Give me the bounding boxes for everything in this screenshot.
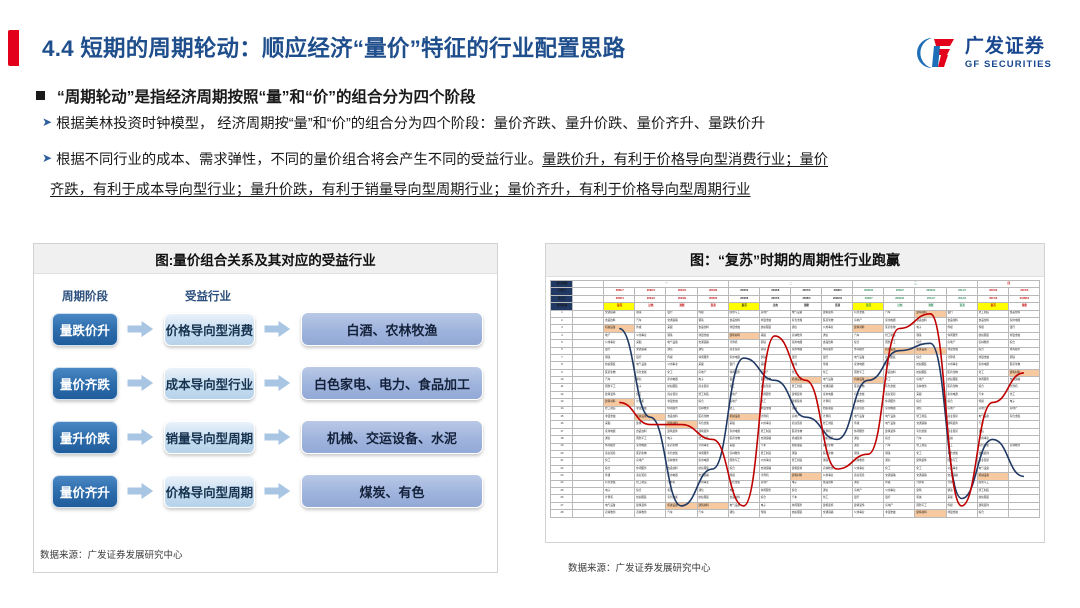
group-header: 一 [604,281,729,288]
industry-cell: 计算机 [1008,384,1039,391]
industry-cell: 建筑装饰 [697,428,728,435]
phase-cell: 复苏 [853,303,884,310]
industry-cell: 医药生物 [666,443,697,450]
industry-cell: 纺织服装 [822,436,853,443]
table-row: 17家用电器食品饮料建筑装饰建筑装饰家用电器轻工制造医药生物计算机休闲服务建筑装… [551,428,1040,435]
table-row: 21化工房地产农林牧渔家用电器国防军工公用事业轻工制造钢铁农林牧渔通信建筑装饰国… [551,458,1040,465]
industry-cell: 交通运输 [915,473,946,480]
table-row: 15非银金融机械设备食品饮料医药生物机械设备计算机房地产计算机电气设备电气设备轻… [551,414,1040,421]
industry-cell: 农林牧渔 [728,450,759,457]
date-cell: 2018/10 [1008,295,1039,302]
group-header: 二 [728,281,853,288]
industry-cell: 有色金属 [1008,414,1039,421]
industry-cell: 休闲服务 [604,443,635,450]
rank-number: 10 [551,377,573,384]
industry-cell: 房地产 [697,369,728,376]
industry-cell: 电气设备 [853,354,884,361]
date-cell: 2017/3 [1008,288,1039,295]
industry-cell: 电子 [1008,399,1039,406]
stage-chip[interactable]: 量跌价升 [52,313,118,346]
industry-cell: 电子 [759,502,790,509]
flow-row: 量升价跌销量导向型周期机械、交运设备、水泥 [48,418,483,456]
industry-cell: 钢铁 [666,332,697,339]
industry-cell: 综合 [728,465,759,472]
industry-cell: 轻工制造 [977,487,1008,494]
industry-cell: 交通运输 [604,310,635,317]
industry-cell: 非银金融 [946,347,977,354]
date-cell: 2008/3 [790,295,821,302]
industry-cell: 交通运输 [946,473,977,480]
industry-cell: 商业贸易 [604,450,635,457]
industry-cell: 交通运输 [697,340,728,347]
industry-cell: 食品饮料 [728,495,759,502]
industry-cell: 商业贸易 [977,458,1008,465]
flow-row-list: 量跌价升价格导向型消费白酒、农林牧渔量价齐跌成本导向型行业白色家电、电力、食品加… [48,310,483,510]
cycle-ranking-table: 经济周期一二三四月始日2001/72002/42004/42004/92005/… [550,280,1040,518]
group-header: 三 [853,281,978,288]
table-row: 26计算机纺织服装有色金属纺织服装食品饮料综合汽车化工银行银行机械采掘纺织服装 [551,495,1040,502]
industry-cell: 机械设备 [915,347,946,354]
industry-cell: 计算机 [946,354,977,361]
industry-cell: 商业贸易 [946,414,977,421]
industry-cell: 公用事业 [822,325,853,332]
industry-cell: 综合 [1008,340,1039,347]
industry-cell: 化工 [666,369,697,376]
industry-cell: 轻工 [728,384,759,391]
industry-cell: 家用电器 [697,458,728,465]
industry-cell: 通信 [822,487,853,494]
date-cell: 2004/4 [635,295,666,302]
industry-cell: 通信 [728,510,759,517]
industry-cell: 建筑装饰 [853,502,884,509]
industry-cell: 机械设备 [790,377,821,384]
industry-cell: 非银金融 [759,317,790,324]
industry-cell: 公用事业 [697,443,728,450]
spacer-cell [573,421,604,428]
industry-cell: 建筑 [635,421,666,428]
industry-cell: 电子 [790,480,821,487]
stage-chip[interactable]: 量价齐升 [52,475,118,508]
table-row: 13建筑材料计算机非银金融综合房地产化工建筑装饰计算机农林牧渔休闲服务综合综合传… [551,399,1040,406]
title-accent-bar [8,30,19,66]
industry-cell: 医药生物 [790,428,821,435]
industry-cell: 机械设备 [977,473,1008,480]
industry-cell: 医药生物 [635,450,666,457]
arrow-bullet-icon: ➤ [42,150,52,167]
date-cell: 2004/9 [666,295,697,302]
rank-number: 26 [551,495,573,502]
type-chip[interactable]: 价格导向型消费 [164,313,255,346]
industry-cell: 非银金融 [697,332,728,339]
sub-bullet-3-text: 齐跌，有利于成本导向型行业；量升价跌，有利于销量导向型周期行业；量价齐升，有利于… [50,180,751,201]
industry-cell: 钢铁 [1008,354,1039,361]
industry-cell: 家用电器 [790,340,821,347]
table-row: 27电气设备建筑装饰机械设备建筑材料电气设备电子休闲服务建筑装饰建筑装饰房地产国… [551,502,1040,509]
industry-cell: 综合 [915,340,946,347]
industry-chip[interactable]: 白色家电、电力、食品加工 [301,366,483,400]
industry-cell: 电气设备 [884,414,915,421]
industry-cell: 电气设备 [822,377,853,384]
industry-cell: 有色金属 [853,310,884,317]
industry-cell: 纺织服装 [635,495,666,502]
spacer-cell [573,458,604,465]
industry-cell: 农林牧渔 [666,458,697,465]
industry-cell: 化工 [790,369,821,376]
row-end-date: 截止日 [551,295,573,302]
industry-cell: 汽车 [915,436,946,443]
industry-cell: 农林牧渔 [635,510,666,517]
date-cell: 2008/11 [853,288,884,295]
phase-cell: 复苏 [977,303,1008,310]
industry-cell [1008,473,1039,480]
rank-number: 8 [551,362,573,369]
industry-cell: 非银金融 [759,406,790,413]
industry-cell: 交通运输 [915,421,946,428]
rank-number: 9 [551,369,573,376]
industry-cell [1008,428,1039,435]
industry-cell: 休闲服务 [697,354,728,361]
industry-cell: 钢铁 [884,450,915,457]
industry-cell: 汽车 [604,377,635,384]
industry-cell: 机械装饰 [790,436,821,443]
industry-cell: 综合 [977,347,1008,354]
stage-chip[interactable]: 量升价跌 [52,421,118,454]
spacer-cell [573,436,604,443]
table-row: 9医药生物有色金属化工房地产休闲服务房地产化工化工国防军工食品饮料纺织服装医药生… [551,369,1040,376]
industry-cell: 汽车 [697,510,728,517]
industry-cell: 非银金融 [666,399,697,406]
industry-cell: 有色金属 [635,369,666,376]
table-row: 经济阶段复苏过热滞胀衰退复苏过热滞胀衰退复苏过热滞胀衰退复苏滞胀 [551,303,1040,310]
industry-cell: 纺织服装 [604,362,635,369]
industry-cell: 建筑材料 [915,310,946,317]
industry-cell: 房地产 [635,458,666,465]
type-chip[interactable]: 销量导向型周期 [164,421,255,454]
date-cell: 2009/7 [884,288,915,295]
date-cell: 2008/3 [822,288,853,295]
table-row: 20商业贸易医药生物有色金属休闲服务农林牧渔轻工制造钢铁医药生物钢铁钢铁化工有色… [551,450,1040,457]
industry-cell [1008,510,1039,517]
arrow-right-icon [127,319,155,339]
page-title: 4.4 短期的周期轮动：顺应经济“量价”特征的行业配置思路 [42,31,625,63]
arrow-right-icon [264,319,292,339]
industry-cell: 有色金属 [790,317,821,324]
industry-chip[interactable]: 机械、交运设备、水泥 [301,420,483,454]
industry-cell: 公用事业 [759,421,790,428]
industry-cell: 钢铁 [790,450,821,457]
industry-cell: 国防军工 [604,384,635,391]
industry-cell: 农林牧渔 [915,384,946,391]
date-cell: 2001/7 [604,288,635,295]
industry-cell: 计算机 [604,495,635,502]
spacer-cell [573,399,604,406]
table-row: 8纺织服装电气设备公用事业采掘银行采掘传媒传媒家用电器综合纺织服装公用事业家用电… [551,362,1040,369]
table-row: 经济周期一二三四 [551,281,1040,288]
industry-cell: 商业贸易 [697,384,728,391]
industry-cell: 房地产 [1008,406,1039,413]
industry-cell: 化工 [759,399,790,406]
industry-cell: 国防军工 [915,502,946,509]
industry-cell: 通信 [853,436,884,443]
industry-cell: 计算机 [635,399,666,406]
industry-chip[interactable]: 煤炭、有色 [301,474,483,508]
industry-cell: 公用事业 [853,465,884,472]
phase-cell: 过热 [884,303,915,310]
brand-logo: 广发证券 GF SECURITIES [914,33,1052,73]
industry-cell: 非银金融 [1008,332,1039,339]
date-cell: 2006/8 [759,288,790,295]
industry-cell: 电子 [728,487,759,494]
industry-cell: 通信 [790,325,821,332]
spacer-cell [573,354,604,361]
industry-cell: 通信 [822,332,853,339]
industry-cell: 公用事业 [759,458,790,465]
industry-cell: 休闲服务 [759,391,790,398]
arrow-right-icon [127,373,155,393]
arrow-right-icon [264,481,292,501]
rank-number: 2 [551,317,573,324]
industry-cell: 采掘 [728,421,759,428]
industry-cell: 国防军工 [946,458,977,465]
left-source-note: 数据来源：广发证券发展研究中心 [40,547,183,561]
industry-cell: 家用电器 [1008,317,1039,324]
industry-cell: 家用电器 [884,317,915,324]
rank-number: 20 [551,450,573,457]
industry-cell: 建筑材料 [604,399,635,406]
spacer-cell [573,465,604,472]
industry-cell: 机械设备 [728,414,759,421]
spacer-cell [573,502,604,509]
industry-cell: 商业贸易 [853,473,884,480]
phase-cell: 过热 [759,303,790,310]
industry-cell: 交通运输 [1008,377,1039,384]
industry-cell: 有色金属 [604,480,635,487]
logo-text-en: GF SECURITIES [965,60,1052,70]
industry-chip[interactable]: 白酒、农林牧渔 [301,312,483,346]
industry-cell: 纺织服装 [759,325,790,332]
industry-cell: 公用事业 [635,332,666,339]
column-label-stage: 周期阶段 [62,288,108,304]
industry-cell: 纺织服装 [822,406,853,413]
date-cell: 2009/11 [884,295,915,302]
industry-cell: 建筑装饰 [790,465,821,472]
date-cell: 2005/2 [728,288,759,295]
industry-cell: 采掘 [759,362,790,369]
right-panel-title: 图：“复苏”时期的周期性行业跑赢 [546,244,1044,277]
rank-number: 16 [551,421,573,428]
table-row: 月始日2001/72002/42004/42004/92005/22006/82… [551,288,1040,295]
spacer-cell [573,303,604,310]
rank-number: 28 [551,510,573,517]
date-cell: 2004/4 [666,288,697,295]
sub-bullet-2: ➤ 根据不同行业的成本、需求弹性，不同的量价组合将会产生不同的受益行业。量跌价升… [42,150,828,171]
industry-cell: 公用事业 [666,362,697,369]
sub-bullet-2-plain: 根据不同行业的成本、需求弹性，不同的量价组合将会产生不同的受益行业。 [56,152,542,168]
industry-cell: 房地产 [977,406,1008,413]
industry-cell: 交通运输 [635,347,666,354]
stage-chip[interactable]: 量价齐跌 [52,367,118,400]
industry-cell: 建筑材料 [853,325,884,332]
industry-cell: 机械 [915,495,946,502]
main-bullet: “周期轮动”是指经济周期按照“量”和“价”的组合分为四个阶段 [36,85,476,107]
industry-cell: 食品饮料 [666,465,697,472]
spacer-cell [573,414,604,421]
industry-cell: 有色金属 [884,384,915,391]
industry-cell: 轻工制造 [759,428,790,435]
industry-cell: 建筑 [915,487,946,494]
rank-number: 7 [551,354,573,361]
industry-cell: 传媒 [604,473,635,480]
type-chip[interactable]: 成本导向型行业 [164,367,255,400]
industry-cell: 综合 [759,495,790,502]
industry-cell: 钢铁 [759,347,790,354]
industry-cell: 银行 [822,354,853,361]
industry-cell: 商业贸易 [790,421,821,428]
industry-cell: 计算机 [822,399,853,406]
industry-cell: 国防军工 [728,458,759,465]
industry-cell: 传媒 [759,510,790,517]
industry-cell: 机械 [946,436,977,443]
rank-number: 27 [551,502,573,509]
industry-cell: 采掘 [946,495,977,502]
spacer-cell [573,510,604,517]
table-row: 24有色金属轻工制造计算机公用事业有色金属房地产电子食品饮料通信传媒计算机计算机… [551,480,1040,487]
industry-cell: 建筑材料 [728,332,759,339]
spacer-cell [573,347,604,354]
industry-cell: 计算机 [728,340,759,347]
industry-cell: 交通运输 [884,473,915,480]
industry-cell: 轻工制造 [635,480,666,487]
table-row: 6银行交通运输通信通信商业贸易钢铁家用电器休闲服务休闲服务机械设备机械设备非银金… [551,347,1040,354]
spacer-cell [573,487,604,494]
right-source-note: 数据来源：广发证券发展研究中心 [568,560,711,574]
industry-cell [1008,495,1039,502]
industry-cell: 化工 [822,495,853,502]
cycle-table-wrap: 经济周期一二三四月始日2001/72002/42004/42004/92005/… [546,277,1044,522]
industry-cell: 家用电器 [977,362,1008,369]
industry-cell: 非银金融 [884,510,915,517]
rank-number: 21 [551,458,573,465]
industry-cell: 钢铁 [759,354,790,361]
industry-cell: 钢铁 [635,310,666,317]
industry-cell: 休闲服务 [666,406,697,413]
industry-cell: 医药生物 [946,384,977,391]
industry-cell: 非银金融 [946,510,977,517]
rank-number: 12 [551,391,573,398]
industry-cell: 电气设备 [853,414,884,421]
industry-cell: 房地产 [946,340,977,347]
industry-cell: 建筑材料 [1008,369,1039,376]
industry-cell: 汽车 [759,443,790,450]
phase-cell: 滞胀 [790,303,821,310]
flow-row: 量价齐升价格导向型周期煤炭、有色 [48,472,483,510]
industry-cell: 通信 [604,436,635,443]
industry-cell: 休闲服务 [759,487,790,494]
date-cell: 2005/2 [697,295,728,302]
phase-cell: 过热 [635,303,666,310]
industry-cell: 机械 [666,487,697,494]
spacer-cell [573,443,604,450]
industry-cell: 农林牧渔 [697,406,728,413]
industry-cell: 传媒 [977,399,1008,406]
industry-cell: 纺织服装 [915,362,946,369]
industry-cell: 非银金融 [635,406,666,413]
date-cell: 2011/7 [915,295,946,302]
table-row: 4地产公用事业钢铁非银金融建筑材料采掘农林牧渔通信汽车轻工制造钢铁休闲服务纺织服… [551,332,1040,339]
industry-cell [1008,421,1039,428]
industry-cell: 交通运输 [759,465,790,472]
industry-cell: 综合 [977,510,1008,517]
industry-cell: 房地产 [853,487,884,494]
arrow-right-icon [127,427,155,447]
industry-cell: 商业贸易 [666,391,697,398]
industry-cell: 公用事业 [697,480,728,487]
spacer-cell [573,428,604,435]
industry-cell: 建筑装饰 [635,502,666,509]
industry-cell: 传媒 [790,362,821,369]
date-cell: 2009/7 [853,295,884,302]
industry-cell [1008,465,1039,472]
spacer-cell [573,450,604,457]
date-cell: 2011/7 [946,288,977,295]
table-row: 2食品饮料汽车交通运输钢铁食品饮料非银金融有色金属医药生物房地产家用电器食品饮料… [551,317,1040,324]
spacer-cell [573,310,604,317]
industry-cell: 综合 [884,362,915,369]
spacer-cell [573,332,604,339]
industry-cell: 食品饮料 [666,414,697,421]
industry-cell: 房地产 [759,310,790,317]
industry-cell: 综合 [790,487,821,494]
industry-cell: 银行 [728,362,759,369]
spacer-cell [573,406,604,413]
industry-cell: 钢铁 [853,450,884,457]
industry-cell: 通信 [977,428,1008,435]
phase-cell: 衰退 [822,303,853,310]
left-chart-panel: 图:量价组合关系及其对应的受益行业 周期阶段 受益行业 量跌价升价格导向型消费白… [33,243,498,573]
industry-cell: 交通运输 [666,317,697,324]
industry-cell [1008,436,1039,443]
industry-cell: 建筑材料 [666,421,697,428]
spacer-cell [573,369,604,376]
right-chart-panel: 图：“复苏”时期的周期性行业跑赢 经济周期一二三四月始日2001/72002/4… [545,243,1045,543]
industry-cell: 银行 [635,354,666,361]
industry-cell: 农林牧渔 [790,332,821,339]
industry-cell: 电气设备 [884,421,915,428]
industry-cell: 有色金属 [666,495,697,502]
industry-cell: 传媒 [635,325,666,332]
industry-cell: 纺织服装 [790,510,821,517]
industry-cell: 医药生物 [822,443,853,450]
industry-cell: 钢铁 [822,458,853,465]
industry-cell: 轻工制造 [790,384,821,391]
industry-cell: 化工 [884,377,915,384]
industry-cell: 传媒 [853,421,884,428]
industry-cell: 公用事业 [946,465,977,472]
industry-cell: 农林牧渔 [853,458,884,465]
industry-cell: 汽车 [884,310,915,317]
industry-cell: 钢铁 [604,354,635,361]
rank-number: 25 [551,487,573,494]
industry-cell: 通信 [853,443,884,450]
industry-cell: 公用事业 [604,340,635,347]
industry-cell: 轻工制造 [915,443,946,450]
rank-number: 23 [551,473,573,480]
industry-cell: 食品饮料 [635,428,666,435]
industry-cell: 综合 [977,384,1008,391]
type-chip[interactable]: 价格导向型周期 [164,475,255,508]
industry-cell: 建筑装饰 [790,391,821,398]
industry-cell: 轻工制造 [759,450,790,457]
